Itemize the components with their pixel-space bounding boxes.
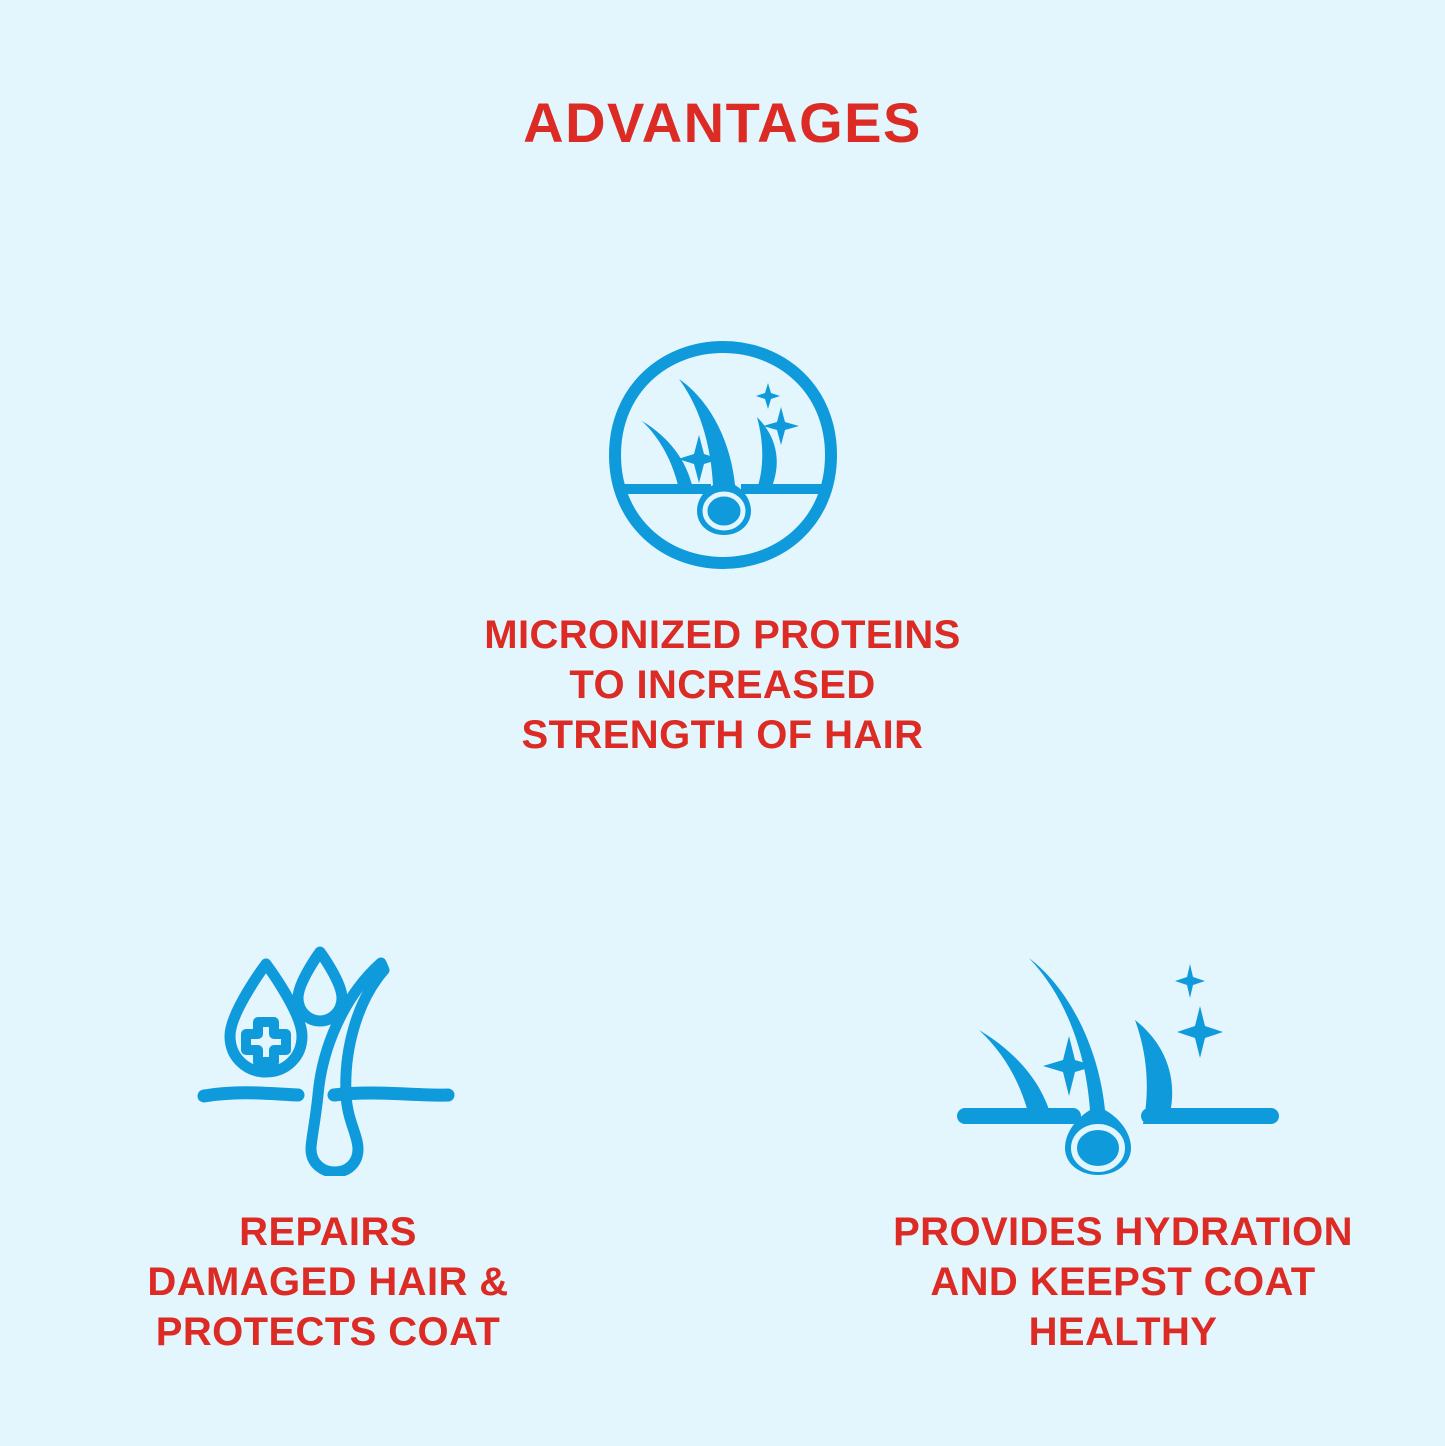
caption-line: TO INCREASED [413,660,1033,710]
caption-line: REPAIRS [18,1207,638,1257]
caption-line: AND KEEPST COAT [813,1257,1433,1307]
caption-line: DAMAGED HAIR & [18,1257,638,1307]
caption-line: MICRONIZED PROTEINS [413,610,1033,660]
feature-provides-hydration: PROVIDES HYDRATION AND KEEPST COAT HEALT… [813,935,1433,1357]
feature-caption: MICRONIZED PROTEINS TO INCREASED STRENGT… [413,610,1033,760]
caption-line: PROVIDES HYDRATION [813,1207,1433,1257]
feature-caption: PROVIDES HYDRATION AND KEEPST COAT HEALT… [813,1207,1433,1357]
water-drops-hair-follicle-icon [18,935,638,1185]
caption-line: PROTECTS COAT [18,1307,638,1357]
feature-caption: REPAIRS DAMAGED HAIR & PROTECTS COAT [18,1207,638,1357]
caption-line: HEALTHY [813,1307,1433,1357]
advantages-infographic: ADVANTAGES [0,0,1445,1446]
feature-repairs-damaged-hair: REPAIRS DAMAGED HAIR & PROTECTS COAT [18,935,638,1357]
hair-follicle-in-circle-icon [413,330,1033,580]
hair-follicle-sparkles-icon [813,935,1433,1185]
caption-line: STRENGTH OF HAIR [413,710,1033,760]
page-title: ADVANTAGES [0,95,1445,151]
feature-micronized-proteins: MICRONIZED PROTEINS TO INCREASED STRENGT… [413,330,1033,760]
